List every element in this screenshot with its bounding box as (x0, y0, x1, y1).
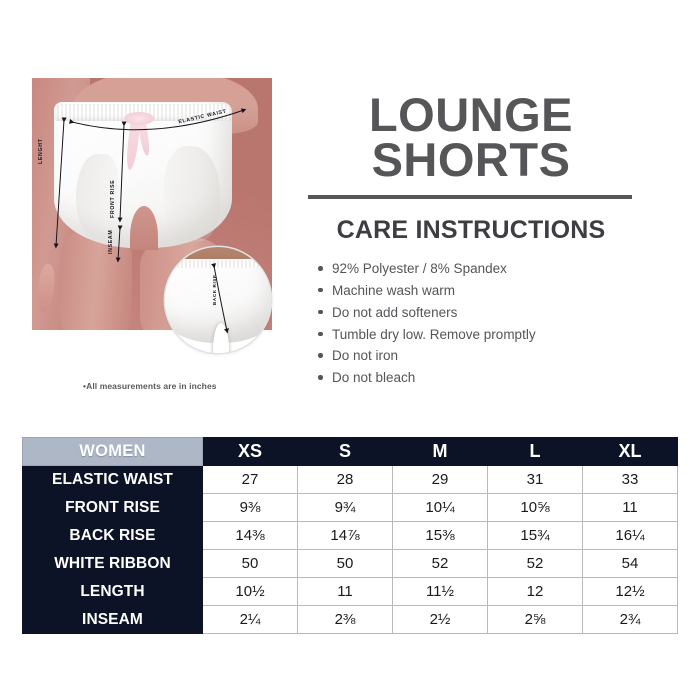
table-cell: 14⅜ (203, 522, 298, 550)
row-label: WHITE RIBBON (23, 550, 203, 578)
table-body: ELASTIC WAIST 27 28 29 31 33 FRONT RISE … (23, 466, 678, 634)
table-cell: 16¼ (583, 522, 678, 550)
table-cell: 2½ (393, 606, 488, 634)
table-row: FRONT RISE 9⅜ 9¾ 10¼ 10⅝ 11 (23, 494, 678, 522)
product-title-line1: LOUNGE (308, 92, 634, 137)
category-header: WOMEN (23, 438, 203, 466)
table-cell: 12½ (583, 578, 678, 606)
table-cell: 2⅜ (298, 606, 393, 634)
bullet-icon (318, 353, 323, 358)
table-cell: 52 (393, 550, 488, 578)
title-block: LOUNGE SHORTS (308, 92, 634, 182)
table-cell: 9⅜ (203, 494, 298, 522)
table-row: WHITE RIBBON 50 50 52 52 54 (23, 550, 678, 578)
bullet-icon (318, 332, 323, 337)
row-label: FRONT RISE (23, 494, 203, 522)
size-header-l: L (488, 438, 583, 466)
title-divider (308, 195, 632, 199)
list-item: 92% Polyester / 8% Spandex (318, 258, 536, 280)
list-item: Do not add softeners (318, 302, 536, 324)
annotation-back-rise: BACK RISE (212, 274, 217, 305)
measurement-footnote: •All measurements are in inches (83, 381, 217, 391)
table-cell: 10⅝ (488, 494, 583, 522)
size-header-s: S (298, 438, 393, 466)
annotation-inseam: INSEAM (108, 230, 114, 254)
product-title-line2: SHORTS (308, 137, 634, 182)
size-chart-table: WOMEN XS S M L XL ELASTIC WAIST 27 28 29… (22, 437, 678, 634)
list-item: Do not iron (318, 345, 536, 367)
list-item: Do not bleach (318, 367, 536, 389)
size-chart-page: ELASTIC WAIST LENGHT FRONT RISE INSEAM B… (0, 0, 700, 700)
table-row: LENGTH 10½ 11 11½ 12 12½ (23, 578, 678, 606)
care-item-text: Tumble dry low. Remove promptly (332, 327, 536, 342)
row-label: BACK RISE (23, 522, 203, 550)
table-cell: 29 (393, 466, 488, 494)
row-label: INSEAM (23, 606, 203, 634)
table-cell: 33 (583, 466, 678, 494)
back-view-inset: BACK RISE (165, 247, 271, 353)
table-row: ELASTIC WAIST 27 28 29 31 33 (23, 466, 678, 494)
table-cell: 31 (488, 466, 583, 494)
table-cell: 54 (583, 550, 678, 578)
table-cell: 52 (488, 550, 583, 578)
list-item: Machine wash warm (318, 280, 536, 302)
care-item-text: 92% Polyester / 8% Spandex (332, 261, 507, 276)
table-header-row: WOMEN XS S M L XL (23, 438, 678, 466)
care-item-text: Machine wash warm (332, 283, 455, 298)
table-cell: 50 (298, 550, 393, 578)
table-cell: 2⅝ (488, 606, 583, 634)
table-cell: 15⅜ (393, 522, 488, 550)
table-cell: 14⅞ (298, 522, 393, 550)
table-cell: 10¼ (393, 494, 488, 522)
table-cell: 27 (203, 466, 298, 494)
table-cell: 10½ (203, 578, 298, 606)
table-cell: 11 (298, 578, 393, 606)
table-row: INSEAM 2¼ 2⅜ 2½ 2⅝ 2¾ (23, 606, 678, 634)
annotation-length: LENGHT (38, 138, 44, 164)
size-header-m: M (393, 438, 488, 466)
table-cell: 12 (488, 578, 583, 606)
size-header-xs: XS (203, 438, 298, 466)
list-item: Tumble dry low. Remove promptly (318, 324, 536, 346)
table-cell: 15¾ (488, 522, 583, 550)
table-cell: 2¾ (583, 606, 678, 634)
table-cell: 11½ (393, 578, 488, 606)
care-item-text: Do not add softeners (332, 305, 457, 320)
table-cell: 28 (298, 466, 393, 494)
top-section: ELASTIC WAIST LENGHT FRONT RISE INSEAM B… (0, 0, 700, 420)
bullet-icon (318, 310, 323, 315)
row-label: ELASTIC WAIST (23, 466, 203, 494)
table-row: BACK RISE 14⅜ 14⅞ 15⅜ 15¾ 16¼ (23, 522, 678, 550)
care-item-text: Do not iron (332, 348, 398, 363)
bullet-icon (318, 375, 323, 380)
row-label: LENGTH (23, 578, 203, 606)
table-cell: 50 (203, 550, 298, 578)
annotation-front-rise: FRONT RISE (110, 180, 116, 218)
care-instructions-list: 92% Polyester / 8% Spandex Machine wash … (318, 258, 536, 389)
table-cell: 11 (583, 494, 678, 522)
care-item-text: Do not bleach (332, 370, 415, 385)
size-header-xl: XL (583, 438, 678, 466)
table-cell: 9¾ (298, 494, 393, 522)
bullet-icon (318, 266, 323, 271)
bullet-icon (318, 288, 323, 293)
table-cell: 2¼ (203, 606, 298, 634)
back-rise-arrow (165, 247, 271, 353)
care-instructions-heading: CARE INSTRUCTIONS (308, 216, 634, 245)
